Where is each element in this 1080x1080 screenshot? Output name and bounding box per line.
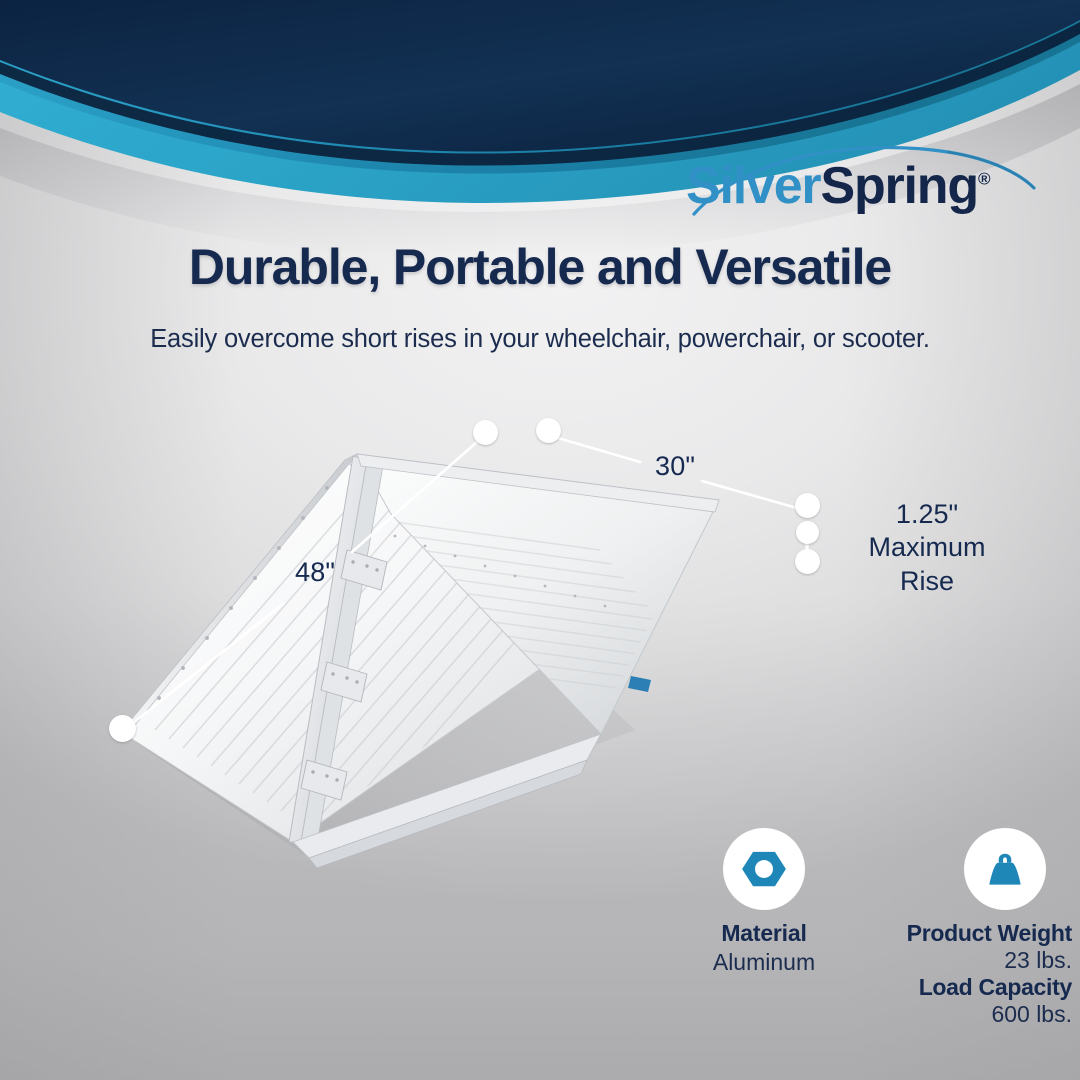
feature-material-text: Material Aluminum [676, 920, 852, 976]
feature-material-icon-circle [723, 828, 805, 910]
callout-label-width: 30" [655, 450, 695, 483]
feature-material-value: Aluminum [676, 949, 852, 976]
page-subtitle: Easily overcome short rises in your whee… [0, 325, 1080, 354]
page-title: Durable, Portable and Versatile [0, 238, 1080, 296]
callout-dot-rise-1 [795, 493, 820, 518]
callout-dot-rise-3 [795, 549, 820, 574]
feature-load-capacity-title: Load Capacity [860, 974, 1072, 1001]
callout-dot-48-bottom [109, 715, 136, 742]
product-infographic: SilverSpring® Durable, Portable and Vers… [0, 0, 1080, 1080]
callout-dot-rise-2 [796, 521, 819, 544]
feature-product-weight-value: 23 lbs. [860, 947, 1072, 974]
feature-load-capacity-value: 600 lbs. [860, 1001, 1072, 1028]
callout-rise-line3: Rise [832, 565, 1022, 598]
registered-mark: ® [978, 170, 989, 189]
callout-dot-30-left [536, 418, 561, 443]
callout-label-rise: 1.25" Maximum Rise [832, 498, 1022, 598]
product-sticker [628, 676, 651, 692]
hex-nut-icon [739, 844, 789, 894]
brand-logo: SilverSpring® [686, 140, 1036, 232]
weight-icon [980, 844, 1030, 894]
logo-word-silver: Silver [686, 157, 820, 215]
logo-wordmark: SilverSpring® [686, 160, 1036, 212]
logo-word-spring: Spring [820, 157, 977, 215]
product-image-ramp [95, 430, 795, 950]
callout-dot-48-top [473, 420, 498, 445]
callout-rise-value: 1.25" [832, 498, 1022, 531]
callout-rise-line2: Maximum [832, 531, 1022, 564]
feature-weight-icon-circle [964, 828, 1046, 910]
feature-material-title: Material [676, 920, 852, 947]
feature-product-weight-title: Product Weight [860, 920, 1072, 947]
feature-weight-text: Product Weight 23 lbs. Load Capacity 600… [860, 920, 1076, 1028]
callout-label-length: 48" [295, 556, 335, 589]
